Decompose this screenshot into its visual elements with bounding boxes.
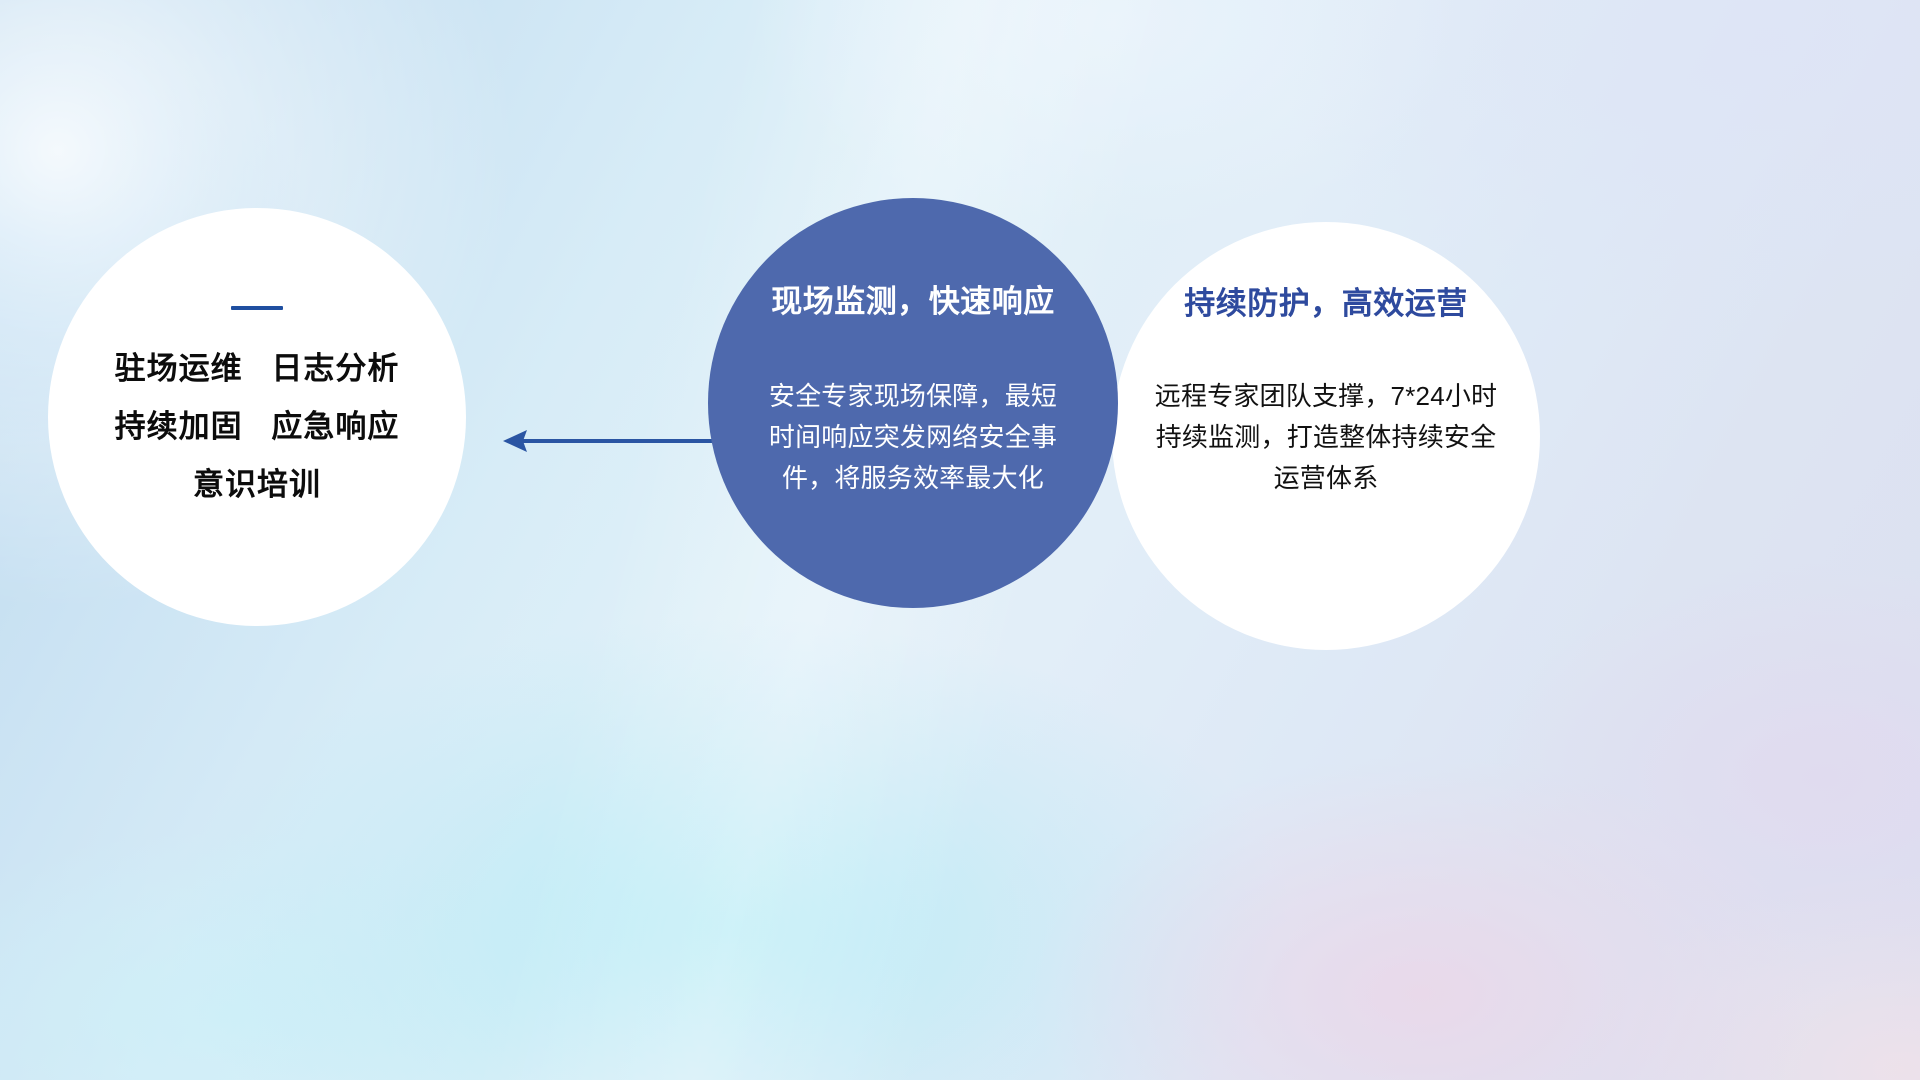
capabilities-list: 驻场运维 日志分析 持续加固 应急响应 意识培训 [115, 352, 400, 502]
continuous-protection-title: 持续防护，高效运营 [1184, 286, 1468, 322]
onsite-monitoring-title: 现场监测，快速响应 [771, 284, 1055, 320]
capabilities-circle: 驻场运维 日志分析 持续加固 应急响应 意识培训 [48, 208, 466, 626]
left-arrow-icon [503, 430, 723, 452]
capability-line-2: 持续加固 应急响应 [115, 410, 400, 444]
onsite-monitoring-circle: 现场监测，快速响应 安全专家现场保障，最短时间响应突发网络安全事件，将服务效率最… [708, 198, 1118, 608]
capability-line-3: 意识培训 [193, 468, 321, 502]
continuous-protection-body: 远程专家团队支撑，7*24小时持续监测，打造整体持续安全运营体系 [1153, 376, 1499, 499]
onsite-monitoring-body: 安全专家现场保障，最短时间响应突发网络安全事件，将服务效率最大化 [760, 376, 1066, 499]
continuous-protection-circle: 持续防护，高效运营 远程专家团队支撑，7*24小时持续监测，打造整体持续安全运营… [1112, 222, 1540, 650]
divider-dash-icon [231, 306, 283, 310]
arrow-connector [495, 418, 725, 464]
capability-line-1: 驻场运维 日志分析 [115, 352, 400, 386]
slide-canvas: 驻场运维 日志分析 持续加固 应急响应 意识培训 持续防护，高效运营 远程专家团… [0, 0, 1920, 1080]
